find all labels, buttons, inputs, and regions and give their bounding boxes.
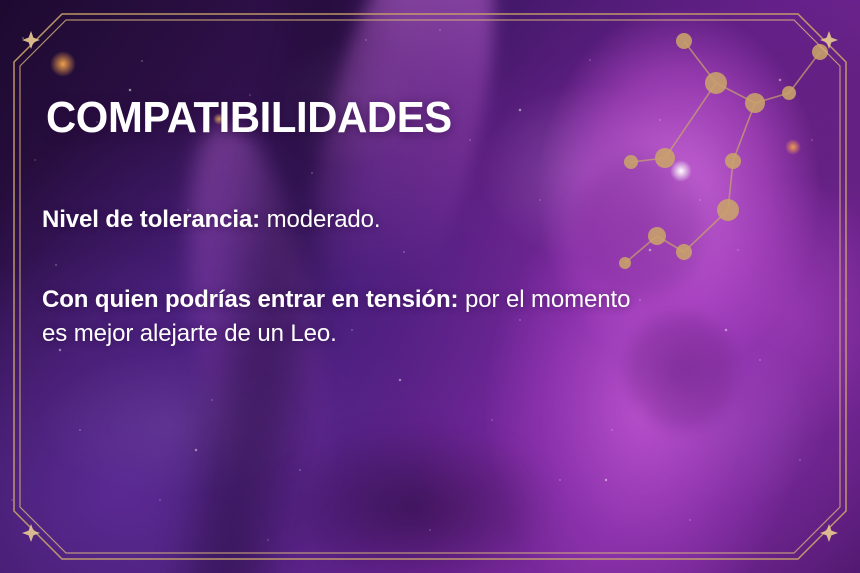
page-title: COMPATIBILIDADES bbox=[46, 93, 452, 143]
card-content: COMPATIBILIDADES Nivel de tolerancia: mo… bbox=[0, 0, 860, 573]
tolerance-value: moderado. bbox=[260, 206, 380, 233]
tolerance-label: Nivel de tolerancia: bbox=[42, 206, 260, 233]
tension-paragraph: Con quien podrías entrar en tensión: por… bbox=[42, 283, 642, 351]
horoscope-card: COMPATIBILIDADES Nivel de tolerancia: mo… bbox=[0, 0, 860, 573]
tolerance-paragraph: Nivel de tolerancia: moderado. bbox=[42, 203, 642, 237]
tension-label: Con quien podrías entrar en tensión: bbox=[42, 286, 458, 313]
